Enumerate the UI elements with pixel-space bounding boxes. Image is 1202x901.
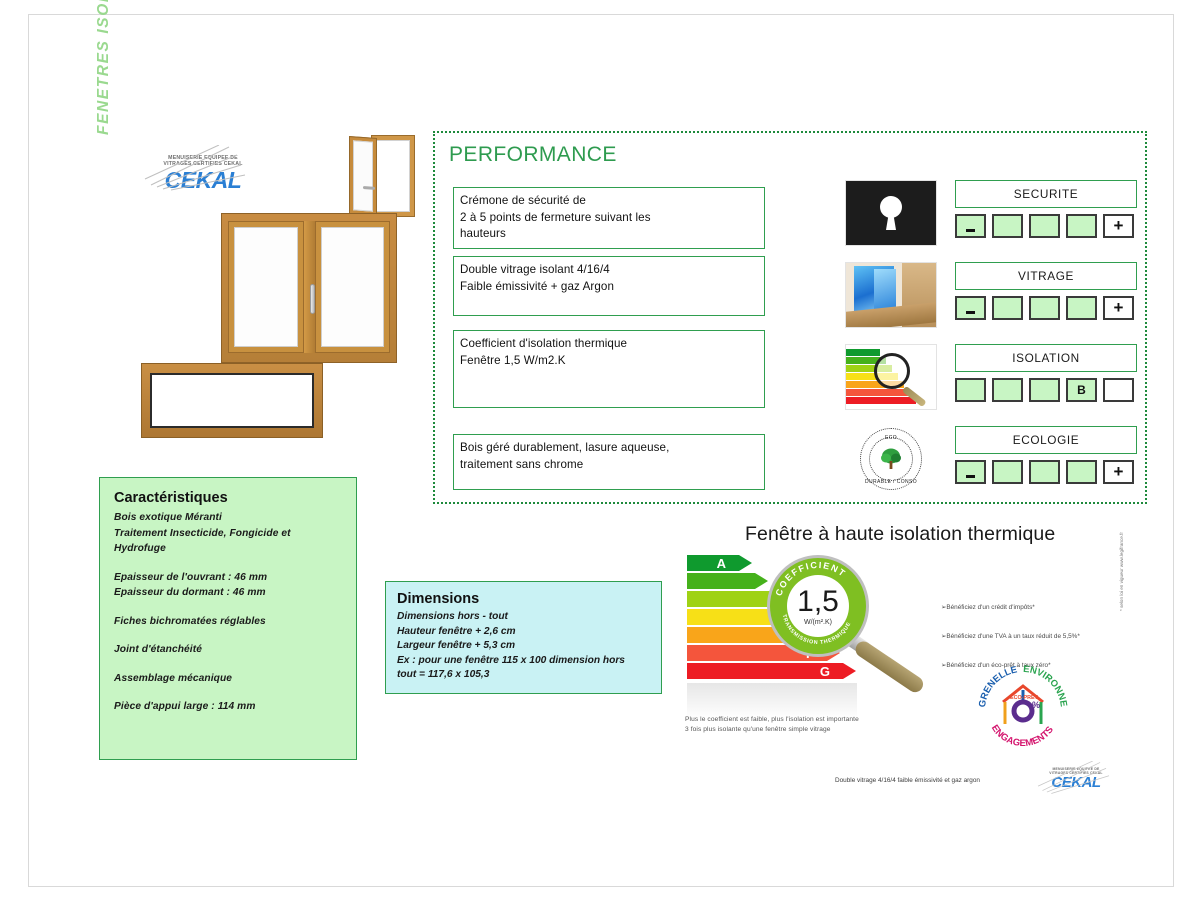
feature-line: traitement sans chrome	[460, 457, 758, 474]
legal-footnote: * selon loi en vigueur www.legifrance.fr	[1119, 532, 1124, 611]
rating-cell[interactable]	[1029, 378, 1060, 402]
performance-feature-box: Coefficient d'isolation thermique Fenêtr…	[453, 330, 765, 408]
rating-cell[interactable]	[1066, 214, 1097, 238]
dimensions-line: Dimensions hors - tout	[397, 610, 650, 625]
benefit-item: ➢Bénéficiez d'une TVA à un taux réduit d…	[941, 632, 1121, 640]
rating-cell[interactable]	[1029, 296, 1060, 320]
thermal-section-title: Fenêtre à haute isolation thermique	[745, 523, 1055, 546]
svg-text:ÉCO-PRÊT: ÉCO-PRÊT	[1010, 693, 1039, 701]
window-glass	[150, 373, 314, 428]
energy-note: Plus le coefficient est faible, plus l'i…	[685, 715, 859, 735]
performance-title: PERFORMANCE	[449, 143, 617, 167]
feature-line: Fenêtre 1,5 W/m2.K	[460, 353, 758, 370]
dimensions-line: tout = 117,6 x 105,3	[397, 668, 650, 683]
rating-right: ECOLOGIE +	[955, 426, 1137, 484]
rating-cell[interactable]	[955, 296, 986, 320]
energy-magnifier-icon	[845, 344, 937, 410]
carac-line: Epaisseur du dormant : 46 mm	[114, 585, 342, 601]
svg-text:%: %	[1032, 700, 1040, 710]
rating-cell[interactable]: +	[1103, 214, 1134, 238]
eco-pret-house-icon: % ÉCO-PRÊT	[999, 682, 1047, 726]
rating-cell[interactable]	[1066, 296, 1097, 320]
rating-scale: +	[955, 296, 1137, 320]
rating-cell[interactable]	[955, 460, 986, 484]
rating-label: SECURITE	[955, 180, 1137, 208]
dimensions-title: Dimensions	[397, 591, 650, 607]
window-glass	[353, 140, 373, 211]
rating-scale: +	[955, 460, 1137, 484]
rating-label: VITRAGE	[955, 262, 1137, 290]
performance-panel: PERFORMANCE Crémone de sécurité de 2 à 5…	[433, 131, 1147, 504]
feature-line: 2 à 5 points de fermeture suivant les	[460, 210, 758, 227]
coefficient-unit: W/(m².K)	[804, 619, 832, 626]
rating-cell[interactable]	[992, 296, 1023, 320]
benefit-item: ➢Bénéficiez d'un crédit d'impôts*	[941, 603, 1121, 611]
rating-cell[interactable]	[1029, 460, 1060, 484]
energy-note-line: Plus le coefficient est faible, plus l'i…	[685, 715, 859, 725]
performance-feature-box: Double vitrage isolant 4/16/4 Faible émi…	[453, 256, 765, 316]
window-leaf-left	[228, 221, 304, 353]
bottom-glazing-note: Double vitrage 4/16/4 faible émissivité …	[835, 777, 980, 784]
window-sash-back	[371, 135, 415, 217]
energy-bar-label: A	[717, 556, 726, 571]
caracteristiques-box: Caractéristiques Bois exotique Méranti T…	[99, 477, 357, 760]
feature-line: Faible émissivité + gaz Argon	[460, 279, 758, 296]
main-window-photo	[221, 213, 397, 363]
feature-line: Crémone de sécurité de	[460, 193, 758, 210]
carac-line: Fiches bichromatées réglables	[114, 614, 342, 630]
energy-note-line: 3 fois plus isolante qu'une fenêtre simp…	[685, 725, 859, 735]
feature-line: Coefficient d'isolation thermique	[460, 336, 758, 353]
coefficient-value-circle: 1,5 W/(m².K)	[787, 575, 849, 637]
rating-right: ISOLATION B	[955, 344, 1137, 402]
keyhole-icon	[845, 180, 937, 246]
slide-canvas: FENETRES ISOLANTE MT 46 MM MENUISERIE EQ…	[28, 14, 1174, 887]
rating-right: VITRAGE +	[955, 262, 1137, 320]
carac-line: Traitement Insecticide, Fongicide et	[114, 526, 342, 542]
rating-cell[interactable]	[992, 460, 1023, 484]
carac-line: Joint d'étanchéité	[114, 642, 342, 658]
window-leaf-right	[315, 221, 391, 353]
window-glass	[376, 140, 410, 212]
cekal-logo-top: MENUISERIE EQUIPEE DE VITRAGES CERTIFIES…	[147, 155, 259, 192]
screenshot-page: FENETRES ISOLANTE MT 46 MM MENUISERIE EQ…	[0, 0, 1202, 901]
svg-text:ENGAGEMENTS: ENGAGEMENTS	[989, 723, 1056, 749]
carac-line: Epaisseur de l'ouvrant : 46 mm	[114, 570, 342, 586]
dimensions-line: Largeur fenêtre + 5,3 cm	[397, 639, 650, 654]
dimensions-line: Ex : pour une fenêtre 115 x 100 dimensio…	[397, 654, 650, 669]
rating-cell[interactable]	[955, 378, 986, 402]
rating-right: SECURITE +	[955, 180, 1137, 238]
rating-cell[interactable]	[1029, 214, 1060, 238]
performance-feature-box: Crémone de sécurité de 2 à 5 points de f…	[453, 187, 765, 249]
caracteristiques-title: Caractéristiques	[114, 490, 342, 506]
cekal-wordmark: CEKAL	[1039, 775, 1113, 791]
feature-line: hauteurs	[460, 226, 758, 243]
rating-label: ISOLATION	[955, 344, 1137, 372]
rating-cell[interactable]	[1066, 460, 1097, 484]
window-sash-front	[349, 136, 377, 216]
rating-scale: B	[955, 378, 1137, 402]
window-glass	[321, 227, 385, 347]
cekal-wordmark: CEKAL	[147, 168, 259, 192]
rating-cell-active[interactable]: B	[1066, 378, 1097, 402]
energy-bar-label: G	[820, 664, 830, 679]
feature-line: Bois géré durablement, lasure aqueuse,	[460, 440, 758, 457]
rating-cell[interactable]	[1103, 378, 1134, 402]
rating-label: ECOLOGIE	[955, 426, 1137, 454]
coefficient-value: 1,5	[797, 587, 839, 617]
transom-window-photo	[141, 363, 323, 438]
rating-cell[interactable]: +	[1103, 296, 1134, 320]
side-title: FENETRES ISOLANTE MT 46 MM	[87, 0, 121, 135]
window-glass	[234, 227, 298, 347]
dimensions-line: Hauteur fenêtre + 2,6 cm	[397, 625, 650, 640]
glazing-icon	[845, 262, 937, 328]
rating-cell[interactable]	[992, 378, 1023, 402]
performance-feature-box: Bois géré durablement, lasure aqueuse, t…	[453, 434, 765, 490]
carac-line: Pièce d'appui large : 114 mm	[114, 699, 342, 715]
carac-line: Bois exotique Méranti	[114, 510, 342, 526]
carac-line: Hydrofuge	[114, 541, 342, 557]
energy-chart-reflection	[687, 683, 857, 719]
window-handle-icon	[310, 284, 315, 314]
grenelle-environnement-logo: GRENELLE ENVIRONNEMENT ENGAGEMENTS % ÉCO…	[977, 660, 1069, 752]
rating-scale: +	[955, 214, 1137, 238]
eco-tree-icon: ECO DURABLE / CONSO	[845, 426, 937, 492]
coefficient-magnifier-badge: COEFFICIENT TRANSMISSION THERMIQUE 1,5 W…	[770, 558, 866, 654]
carac-line: Assemblage mécanique	[114, 671, 342, 687]
cekal-logo-bottom: MENUISERIE EQUIPEE DE VITRAGES CERTIFIES…	[1039, 767, 1113, 791]
rating-cell[interactable]	[955, 214, 986, 238]
feature-line: Double vitrage isolant 4/16/4	[460, 262, 758, 279]
rating-cell[interactable]: +	[1103, 460, 1134, 484]
rating-cell[interactable]	[992, 214, 1023, 238]
dimensions-box: Dimensions Dimensions hors - tout Hauteu…	[385, 581, 662, 694]
